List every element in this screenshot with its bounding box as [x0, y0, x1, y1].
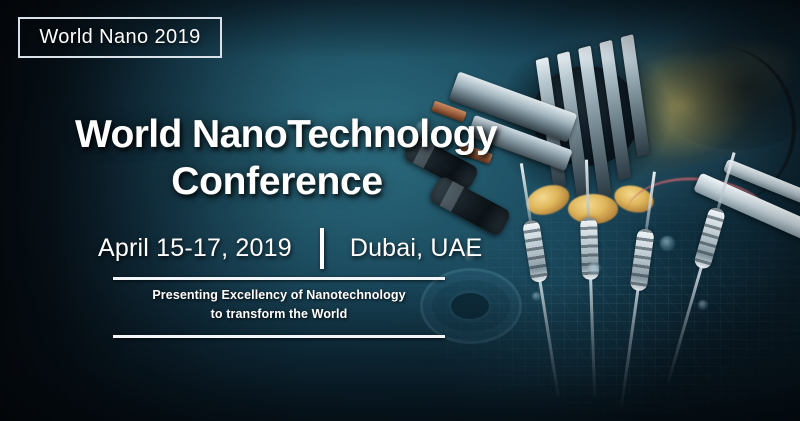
conference-banner: World Nano 2019 World NanoTechnology Con…	[0, 0, 800, 421]
event-date: April 15-17, 2019	[98, 234, 292, 263]
page-title: World NanoTechnology Conference	[75, 112, 475, 206]
event-meta: April 15-17, 2019 Dubai, UAE	[98, 228, 482, 269]
vignette	[0, 0, 800, 421]
event-location: Dubai, UAE	[350, 234, 483, 263]
event-badge-label: World Nano 2019	[39, 26, 200, 49]
tagline-line-1: Presenting Excellency of Nanotechnology	[113, 286, 445, 305]
meta-divider	[320, 228, 324, 269]
title-line-1: World NanoTechnology	[75, 112, 475, 158]
event-badge: World Nano 2019	[18, 17, 222, 58]
event-tagline: Presenting Excellency of Nanotechnology …	[113, 286, 445, 324]
title-line-2: Conference	[75, 158, 475, 206]
tagline-rule-top	[113, 277, 445, 280]
tagline-rule-bottom	[113, 335, 445, 338]
tagline-line-2: to transform the World	[113, 305, 445, 324]
